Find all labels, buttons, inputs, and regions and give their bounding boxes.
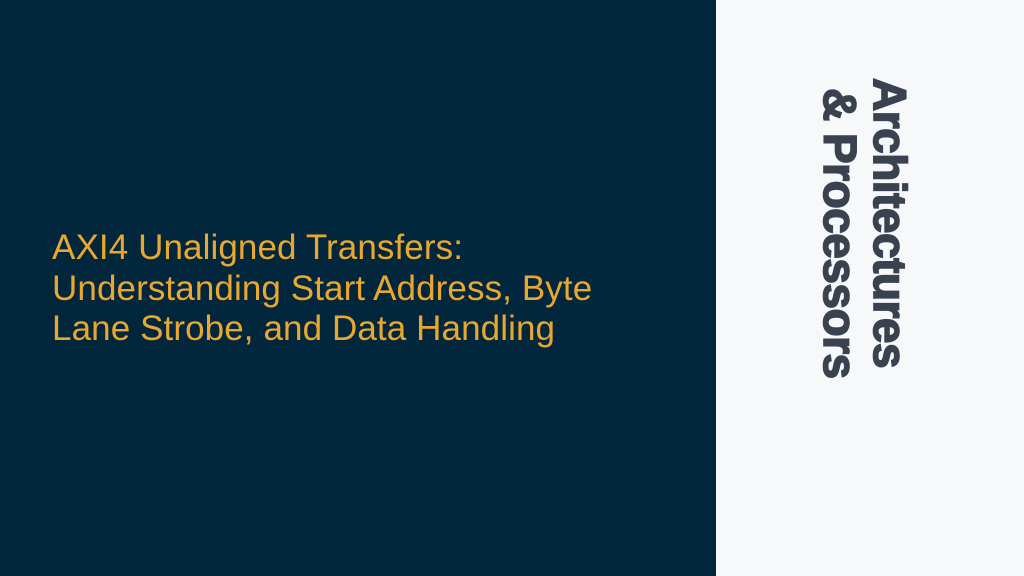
title-panel: AXI4 Unaligned Transfers: Understanding … xyxy=(0,0,716,576)
vertical-label-processors: & Processors xyxy=(817,88,863,379)
vertical-label-architectures: Architectures xyxy=(867,78,913,368)
title-line-1: AXI4 Unaligned Transfers: xyxy=(52,228,692,269)
title-line-3: Lane Strobe, and Data Handling xyxy=(52,309,692,350)
brand-panel: Architectures & Processors xyxy=(716,0,1024,576)
page-title: AXI4 Unaligned Transfers: Understanding … xyxy=(52,228,692,350)
title-line-2: Understanding Start Address, Byte xyxy=(52,269,692,310)
vertical-brand-stack: Architectures & Processors xyxy=(716,0,1024,576)
slide-canvas: AXI4 Unaligned Transfers: Understanding … xyxy=(0,0,1024,576)
